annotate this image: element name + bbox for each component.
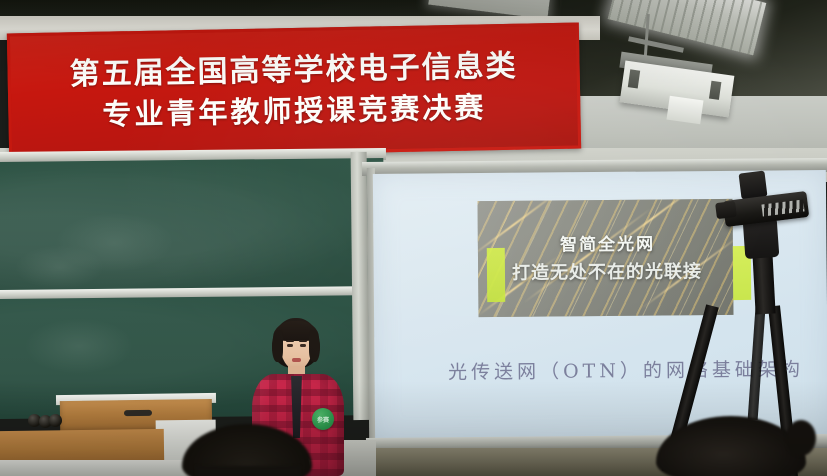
podium-handle [124, 410, 152, 416]
contestant-badge: 参赛 [312, 408, 334, 430]
presenter-eyebrow-left [286, 340, 294, 342]
contestant-badge-label: 参赛 [312, 408, 334, 430]
banner-line-2: 专业青年教师授课竞赛决赛 [102, 88, 487, 135]
presenter-eye-right [300, 344, 306, 347]
classroom-photo: 第五届全国高等学校电子信息类 专业青年教师授课竞赛决赛 智简全光网 打造无处不在… [0, 0, 827, 476]
slide-caption: 光传送网（OTN）的网络基础架构 [448, 354, 818, 384]
slide-subtitle: 打造无处不在的光联接 [488, 257, 726, 285]
presenter-hair-left [272, 330, 283, 362]
desk-objects [28, 414, 62, 428]
desk-object-item [49, 414, 62, 427]
chalk-smudge [24, 318, 135, 375]
presenter-eyebrow-right [299, 340, 307, 342]
audience-shoulders-left [196, 466, 300, 476]
chalkboard-upper-panel [0, 158, 385, 294]
tripod-column [752, 252, 775, 315]
projector-vent-left [628, 69, 640, 88]
projector-vent-right [709, 81, 721, 100]
audience-head-right-detail [786, 420, 816, 456]
chalk-smudge [14, 245, 104, 290]
camera-lens [715, 201, 737, 219]
presenter-eye-left [287, 344, 293, 347]
presenter-hair-right [309, 330, 320, 362]
chalk-smudge [54, 212, 175, 273]
competition-banner: 第五届全国高等学校电子信息类 专业青年教师授课竞赛决赛 [7, 23, 581, 160]
slide-title: 智简全光网 [500, 229, 715, 256]
projector-lens [666, 96, 703, 124]
presenter-mouth [292, 358, 301, 362]
